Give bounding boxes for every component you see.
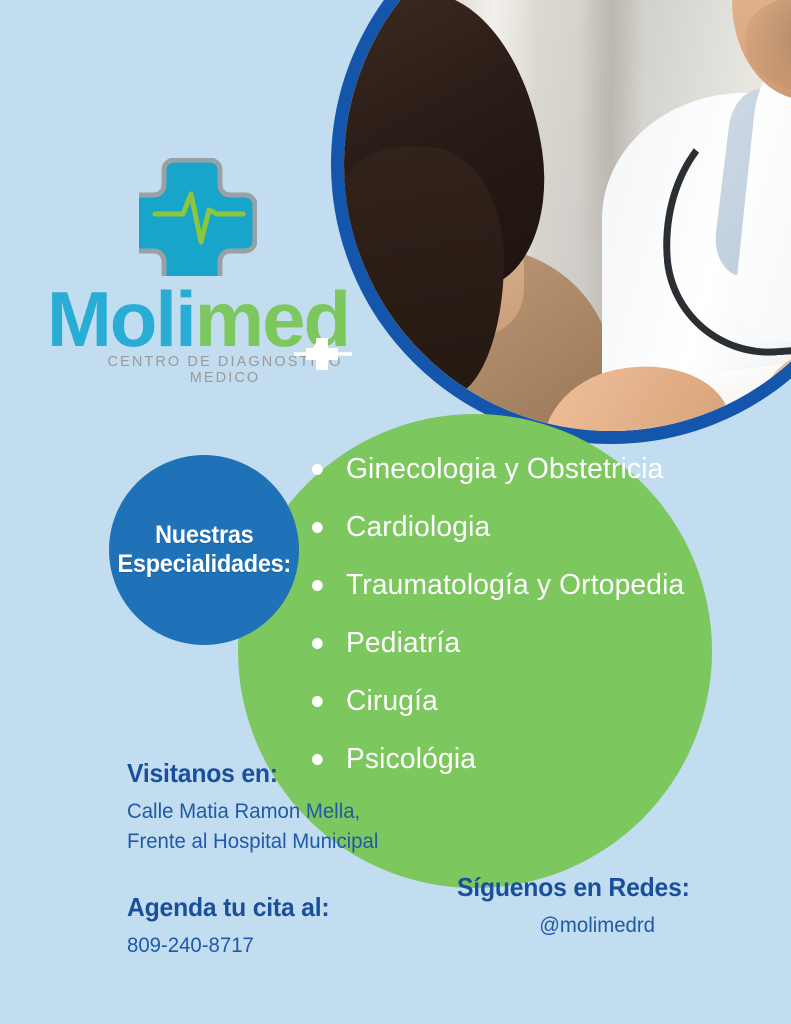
specialty-label: Cirugía xyxy=(346,685,438,718)
list-item: Traumatología y Ortopedia xyxy=(312,556,700,614)
logo-word-moli: Moli xyxy=(47,275,195,363)
bullet-icon xyxy=(312,580,323,591)
specialties-badge-label: Nuestras Especialidades: xyxy=(117,521,290,580)
social-handle[interactable]: @molimedrd xyxy=(457,911,695,941)
social-heading: Síguenos en Redes: xyxy=(457,872,690,903)
bullet-icon xyxy=(312,696,323,707)
list-item: Cardiologia xyxy=(312,498,700,556)
medical-cross-ecg-icon xyxy=(139,158,257,276)
list-item: Pediatría xyxy=(312,614,700,672)
appointment-block: Agenda tu cita al: 809-240-8717 xyxy=(127,892,340,961)
address-text: Calle Matia Ramon Mella, Frente al Hospi… xyxy=(127,797,378,858)
visit-heading: Visitanos en: xyxy=(127,758,373,789)
specialty-label: Ginecologia y Obstetricia xyxy=(346,453,664,486)
specialty-label: Cardiologia xyxy=(346,511,490,544)
specialties-badge: Nuestras Especialidades: xyxy=(109,455,299,645)
phone-number[interactable]: 809-240-8717 xyxy=(127,931,334,961)
bullet-icon xyxy=(312,522,323,533)
logo-cross-wrap xyxy=(18,158,378,276)
logo-cross-ecg-badge-icon xyxy=(294,310,352,350)
brand-logo: Molimed CENTRO DE DIAGNOSTICO MEDICO xyxy=(18,158,378,386)
specialties-list: Ginecologia y Obstetricia Cardiologia Tr… xyxy=(312,440,712,788)
appointment-heading: Agenda tu cita al: xyxy=(127,892,329,923)
list-item: Ginecologia y Obstetricia xyxy=(312,440,700,498)
flyer-canvas: Molimed CENTRO DE DIAGNOSTICO MEDICO Gin… xyxy=(0,0,791,1024)
specialty-label: Pediatría xyxy=(346,627,460,660)
visit-block: Visitanos en: Calle Matia Ramon Mella, F… xyxy=(127,758,386,858)
specialty-label: Traumatología y Ortopedia xyxy=(346,569,684,602)
hero-photo xyxy=(344,0,791,431)
logo-wordmark: Molimed xyxy=(18,282,378,356)
list-item: Cirugía xyxy=(312,672,700,730)
hero-photo-circle xyxy=(331,0,791,444)
social-block: Síguenos en Redes: @molimedrd xyxy=(457,872,702,941)
bullet-icon xyxy=(312,638,323,649)
bullet-icon xyxy=(312,464,323,475)
